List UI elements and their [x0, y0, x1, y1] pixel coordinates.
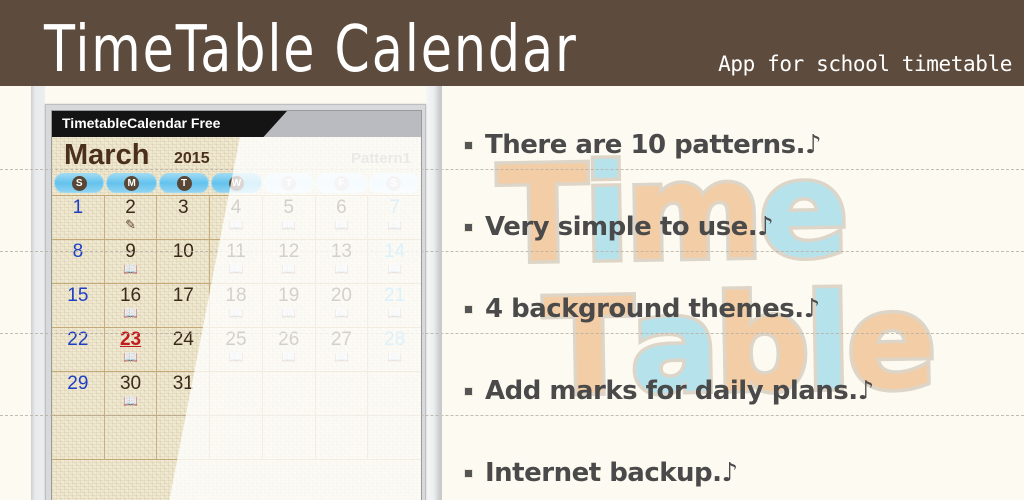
book-mark-icon: 📖 — [334, 263, 349, 275]
feature-item-1: Very simple to use.♪ — [440, 186, 1024, 268]
month-label: March — [64, 139, 149, 172]
book-mark-icon: 📖 — [229, 307, 244, 319]
year-label: 2015 — [174, 150, 210, 168]
book-mark-icon: 📖 — [281, 351, 296, 363]
calendar-day-cell[interactable]: 26📖 — [263, 328, 316, 372]
calendar-day-number: 29 — [67, 374, 88, 394]
day-header-letter: S — [72, 176, 87, 191]
calendar-day-cell[interactable]: 3 — [157, 196, 210, 240]
calendar-day-number: 3 — [178, 198, 189, 218]
calendar-empty-cell — [105, 416, 158, 460]
page-header: TimeTable Calendar App for school timeta… — [0, 0, 1024, 86]
day-header-3: W — [211, 173, 261, 193]
calendar-day-cell[interactable]: 23📖 — [105, 328, 158, 372]
calendar-day-cell[interactable]: 24 — [157, 328, 210, 372]
day-header-1: M — [106, 173, 156, 193]
calendar-day-number: 21 — [384, 286, 405, 306]
calendar-day-cell[interactable]: 2✎ — [105, 196, 158, 240]
calendar-day-number: 31 — [173, 374, 194, 394]
calendar-day-cell[interactable]: 29 — [52, 372, 105, 416]
calendar-day-number: 15 — [67, 286, 88, 306]
calendar-empty-cell — [263, 372, 316, 416]
book-mark-icon: 📖 — [123, 351, 138, 363]
app-name-label: TimetableCalendar Free — [62, 115, 220, 131]
book-mark-icon: 📖 — [229, 351, 244, 363]
calendar-day-cell[interactable]: 25📖 — [210, 328, 263, 372]
book-mark-icon: 📖 — [281, 263, 296, 275]
pattern-label[interactable]: Pattern1 — [351, 150, 411, 167]
calendar-day-cell[interactable]: 4📖 — [210, 196, 263, 240]
feature-list: There are 10 patterns.♪Very simple to us… — [440, 86, 1024, 500]
day-header-5: F — [316, 173, 366, 193]
book-pen-mark-icon: ✎ — [125, 219, 136, 232]
calendar-day-number: 17 — [173, 286, 194, 306]
calendar-day-cell[interactable]: 27📖 — [316, 328, 369, 372]
page-title: TimeTable Calendar — [44, 12, 578, 86]
calendar-day-cell[interactable]: 10 — [157, 240, 210, 284]
square-bullet-icon — [464, 223, 473, 232]
calendar-empty-cell — [263, 416, 316, 460]
calendar-day-cell[interactable]: 30📖 — [105, 372, 158, 416]
calendar-day-cell[interactable]: 13📖 — [316, 240, 369, 284]
book-mark-icon: 📖 — [229, 219, 244, 231]
calendar-day-cell[interactable]: 20📖 — [316, 284, 369, 328]
calendar-day-cell[interactable]: 15 — [52, 284, 105, 328]
day-header-letter: F — [334, 176, 349, 191]
calendar-month-header: March 2015 Pattern1 — [52, 137, 421, 173]
day-header-letter: S — [386, 176, 401, 191]
feature-list-panel: Time Table There are 10 patterns.♪Very s… — [440, 86, 1024, 500]
calendar-empty-cell — [368, 416, 421, 460]
calendar-day-cell[interactable]: 22 — [52, 328, 105, 372]
day-of-week-header: SMTWTFS — [52, 173, 421, 193]
calendar-day-number: 5 — [283, 198, 294, 218]
calendar-day-number: 7 — [389, 198, 400, 218]
calendar-day-cell[interactable]: 11📖 — [210, 240, 263, 284]
day-header-4: T — [264, 173, 314, 193]
feature-label: Very simple to use.♪ — [485, 212, 773, 242]
book-mark-icon: 📖 — [281, 219, 296, 231]
calendar-day-number: 20 — [331, 286, 352, 306]
feature-item-2: 4 background themes.♪ — [440, 268, 1024, 350]
panel-divider — [440, 86, 442, 500]
feature-label: 4 background themes.♪ — [485, 294, 820, 324]
device-showcase-panel: TimetableCalendar Free March 2015 Patter… — [0, 86, 440, 500]
calendar-day-number: 4 — [231, 198, 242, 218]
calendar-day-cell[interactable]: 5📖 — [263, 196, 316, 240]
phone-mockup: TimetableCalendar Free March 2015 Patter… — [45, 104, 426, 500]
calendar-day-number: 6 — [336, 198, 347, 218]
feature-label: There are 10 patterns.♪ — [485, 130, 821, 160]
calendar-day-cell[interactable]: 14📖 — [368, 240, 421, 284]
calendar-day-cell[interactable]: 9📖 — [105, 240, 158, 284]
book-mark-icon: 📖 — [387, 351, 402, 363]
book-mark-icon: 📖 — [334, 219, 349, 231]
calendar-day-cell[interactable]: 31 — [157, 372, 210, 416]
day-header-6: S — [369, 173, 419, 193]
day-header-letter: T — [177, 176, 192, 191]
calendar-day-cell[interactable]: 18📖 — [210, 284, 263, 328]
calendar-empty-cell — [368, 372, 421, 416]
book-mark-icon: 📖 — [123, 307, 138, 319]
calendar-day-cell[interactable]: 7📖 — [368, 196, 421, 240]
feature-item-4: Internet backup.♪ — [440, 432, 1024, 500]
day-header-2: T — [159, 173, 209, 193]
book-mark-icon: 📖 — [123, 395, 138, 407]
book-mark-icon: 📖 — [387, 307, 402, 319]
calendar-day-number: 18 — [225, 286, 246, 306]
book-mark-icon: 📖 — [387, 263, 402, 275]
book-mark-icon: 📖 — [123, 263, 138, 275]
calendar-day-number: 19 — [278, 286, 299, 306]
feature-item-0: There are 10 patterns.♪ — [440, 104, 1024, 186]
calendar-day-cell[interactable]: 19📖 — [263, 284, 316, 328]
calendar-empty-cell — [316, 372, 369, 416]
calendar-day-cell[interactable]: 16📖 — [105, 284, 158, 328]
calendar-day-cell[interactable]: 6📖 — [316, 196, 369, 240]
day-header-letter: T — [281, 176, 296, 191]
square-bullet-icon — [464, 469, 473, 478]
calendar-empty-cell — [210, 372, 263, 416]
book-mark-icon: 📖 — [334, 307, 349, 319]
book-mark-icon: 📖 — [387, 219, 402, 231]
calendar-body: March 2015 Pattern1 SMTWTFS 12✎34📖5📖6📖7📖… — [52, 137, 421, 500]
day-header-0: S — [54, 173, 104, 193]
feature-label: Internet backup.♪ — [485, 458, 738, 488]
feature-label: Add marks for daily plans.♪ — [485, 376, 874, 406]
square-bullet-icon — [464, 305, 473, 314]
calendar-empty-cell — [210, 416, 263, 460]
book-mark-icon: 📖 — [334, 351, 349, 363]
background-strip-left — [31, 86, 45, 500]
day-header-letter: M — [124, 176, 139, 191]
calendar-day-cell[interactable]: 8 — [52, 240, 105, 284]
calendar-day-number: 2 — [125, 198, 136, 218]
calendar-day-cell[interactable]: 28📖 — [368, 328, 421, 372]
calendar-empty-cell — [52, 416, 105, 460]
background-strip-right — [426, 86, 440, 500]
day-header-letter: W — [229, 176, 244, 191]
calendar-day-cell[interactable]: 1 — [52, 196, 105, 240]
feature-item-3: Add marks for daily plans.♪ — [440, 350, 1024, 432]
calendar-day-number: 16 — [120, 286, 141, 306]
calendar-day-number: 30 — [120, 374, 141, 394]
calendar-empty-cell — [157, 416, 210, 460]
app-title-bar: TimetableCalendar Free — [52, 111, 421, 137]
calendar-day-cell[interactable]: 12📖 — [263, 240, 316, 284]
square-bullet-icon — [464, 387, 473, 396]
calendar-day-cell[interactable]: 21📖 — [368, 284, 421, 328]
calendar-grid: 12✎34📖5📖6📖7📖89📖1011📖12📖13📖14📖1516📖1718📖1… — [52, 195, 421, 460]
page-subtitle: App for school timetable — [718, 52, 1012, 76]
calendar-empty-cell — [316, 416, 369, 460]
square-bullet-icon — [464, 141, 473, 150]
calendar-day-number: 1 — [73, 198, 84, 218]
calendar-day-cell[interactable]: 17 — [157, 284, 210, 328]
book-mark-icon: 📖 — [281, 307, 296, 319]
promo-banner: TimeTable Calendar App for school timeta… — [0, 0, 1024, 500]
book-mark-icon: 📖 — [229, 263, 244, 275]
